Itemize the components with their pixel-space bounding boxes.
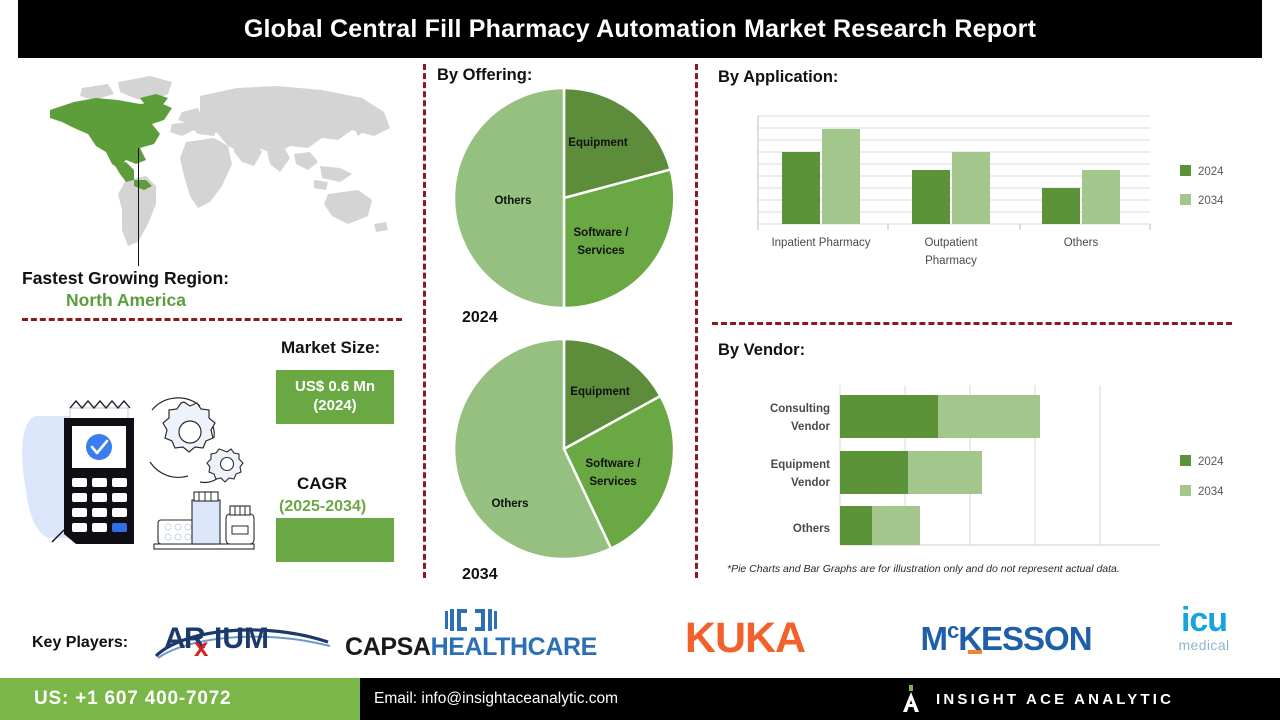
map-leader-line	[138, 148, 139, 266]
capsa-name-part1: CAPSA	[345, 633, 431, 661]
vendor-legend-label-2034: 2034	[1198, 486, 1224, 498]
vendor-cat-consulting-2: Vendor	[791, 421, 831, 433]
application-bar-chart: Inpatient Pharmacy Outpatient Pharmacy O…	[710, 106, 1270, 286]
market-size-value: US$ 0.6 Mn	[295, 378, 375, 397]
mckesson-m: M	[920, 620, 947, 657]
vendor-legend-swatch-2024	[1180, 455, 1191, 466]
fastest-region-value: North America	[66, 290, 186, 311]
logo-mckesson: McKESSON	[870, 614, 1142, 662]
application-section-title: By Application:	[718, 68, 838, 87]
application-cat-outpatient-2: Pharmacy	[925, 255, 977, 267]
kuka-wordmark: KUKA	[685, 614, 805, 663]
pie-2034-label-equipment: Equipment	[570, 386, 630, 398]
footer-contact-block: Email: info@insightaceanalytic.com INSIG…	[360, 678, 1280, 720]
vendor-section-title: By Vendor:	[718, 341, 805, 360]
capsa-bracket-icon	[440, 607, 502, 633]
footer-brand: INSIGHT ACE ANALYTIC	[900, 685, 1174, 713]
vendor-cat-consulting-1: Consulting	[770, 403, 830, 415]
logo-icu-medical: icu medical	[1158, 598, 1250, 660]
application-cat-outpatient-1: Outpatient	[924, 237, 978, 249]
footer-email: Email: info@insightaceanalytic.com	[374, 690, 618, 708]
pie-chart-2024: Equipment Software / Services Others	[448, 86, 680, 310]
pie-2034-label-software: Software /	[586, 458, 642, 470]
pie-2024-label-others: Others	[494, 195, 531, 207]
application-legend-label-2024: 2024	[1198, 166, 1224, 178]
divider-horizontal-left	[22, 318, 402, 321]
footer-brand-name: INSIGHT ACE ANALYTIC	[936, 691, 1174, 708]
pie-chart-2034: Equipment Software / Services Others	[448, 337, 680, 561]
vendor-legend-label-2024: 2024	[1198, 456, 1224, 468]
application-legend-label-2034: 2034	[1198, 195, 1224, 207]
world-map	[22, 68, 404, 258]
market-size-year: (2024)	[313, 397, 356, 416]
cagr-period: (2025-2034)	[279, 498, 366, 516]
icu-subtext: medical	[1178, 637, 1229, 653]
svg-text:x: x	[194, 632, 209, 662]
market-size-box: US$ 0.6 Mn (2024)	[276, 370, 394, 424]
market-size-label: Market Size:	[281, 338, 380, 358]
pie-2024-year: 2024	[462, 309, 498, 327]
infographic-page: Global Central Fill Pharmacy Automation …	[0, 0, 1280, 720]
offering-section-title: By Offering:	[437, 66, 532, 85]
divider-vertical-right	[695, 64, 698, 578]
application-legend-swatch-2034	[1180, 194, 1191, 205]
application-legend-swatch-2024	[1180, 165, 1191, 176]
pie-2034-year: 2034	[462, 566, 498, 584]
mckesson-accent-bar	[968, 650, 982, 654]
divider-horizontal-right	[712, 322, 1232, 325]
pharmacy-automation-illustration	[14, 358, 266, 568]
application-cat-others: Others	[1064, 237, 1099, 249]
fastest-region-label: Fastest Growing Region:	[22, 268, 229, 289]
vendor-cat-others: Others	[793, 523, 830, 535]
footer-phone: US: +1 607 400-7072	[34, 688, 231, 710]
svg-text:A: A	[164, 622, 186, 655]
pie-2024-label-software: Software /	[574, 227, 630, 239]
chart-disclaimer: *Pie Charts and Bar Graphs are for illus…	[727, 563, 1120, 575]
logo-capsa-healthcare: CAPSAHEALTHCARE	[340, 602, 602, 662]
vendor-cat-equipment-2: Vendor	[791, 477, 831, 489]
vendor-cat-equipment-1: Equipment	[771, 459, 831, 471]
capsa-name-part2: HEALTHCARE	[431, 633, 597, 661]
logo-arxium: A R x IUM	[152, 612, 334, 664]
vendor-legend-swatch-2034	[1180, 485, 1191, 496]
logo-kuka: KUKA	[630, 612, 860, 664]
pie-2024-label-equipment: Equipment	[568, 137, 628, 149]
insight-ace-logo-icon	[900, 685, 922, 713]
footer-phone-block: US: +1 607 400-7072	[0, 678, 360, 720]
key-players-label: Key Players:	[32, 634, 128, 652]
application-cat-inpatient: Inpatient Pharmacy	[771, 237, 870, 249]
pie-2024-label-software2: Services	[577, 245, 624, 257]
page-title: Global Central Fill Pharmacy Automation …	[244, 15, 1036, 44]
header-bar: Global Central Fill Pharmacy Automation …	[18, 0, 1262, 58]
footer-bar: US: +1 607 400-7072 Email: info@insighta…	[0, 678, 1280, 720]
cagr-label: CAGR	[297, 474, 347, 494]
icu-wordmark: icu	[1181, 605, 1227, 636]
divider-vertical-left	[423, 64, 426, 578]
svg-text:IUM: IUM	[214, 622, 269, 655]
mckesson-c: c	[947, 618, 958, 643]
pie-2034-label-others: Others	[491, 498, 528, 510]
cagr-box	[276, 518, 394, 562]
pie-2034-label-software2: Services	[589, 476, 636, 488]
vendor-bar-chart: Consulting Vendor Equipment Vendor Other…	[710, 375, 1270, 565]
